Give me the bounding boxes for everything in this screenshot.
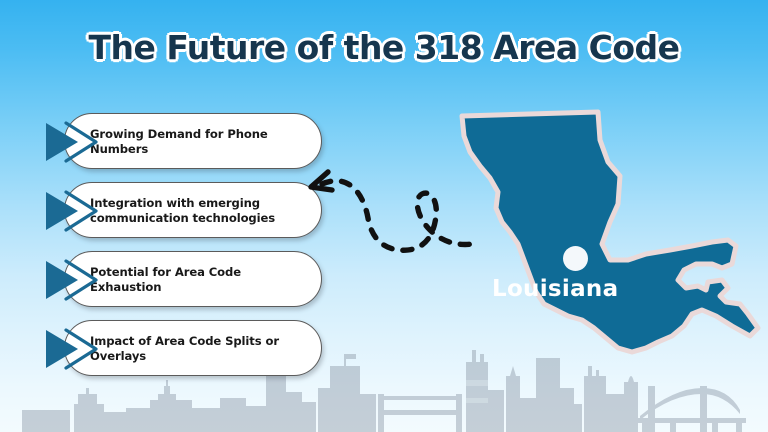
list-item-label: Integration with emerging communication … (90, 196, 312, 226)
infographic-canvas: The Future of the 318 Area Code Louisian… (0, 0, 768, 432)
arrow-chevron-icon (44, 326, 110, 372)
bullet-list: Growing Demand for Phone Numbers Integra… (44, 113, 324, 389)
list-item[interactable]: Potential for Area Code Exhaustion (44, 251, 324, 309)
arrow-chevron-icon (44, 257, 110, 303)
arrow-chevron-icon (44, 188, 110, 234)
page-title: The Future of the 318 Area Code (0, 28, 768, 67)
list-item-label: Impact of Area Code Splits or Overlays (90, 334, 312, 364)
list-item-label: Growing Demand for Phone Numbers (90, 127, 312, 157)
list-item[interactable]: Impact of Area Code Splits or Overlays (44, 320, 324, 378)
arrow-chevron-icon (44, 119, 110, 165)
list-item[interactable]: Growing Demand for Phone Numbers (44, 113, 324, 171)
list-item-label: Potential for Area Code Exhaustion (90, 265, 312, 295)
capital-marker (563, 246, 588, 271)
state-label: Louisiana (492, 276, 618, 302)
dashed-connector-arrow (296, 168, 496, 272)
list-item[interactable]: Integration with emerging communication … (44, 182, 324, 240)
